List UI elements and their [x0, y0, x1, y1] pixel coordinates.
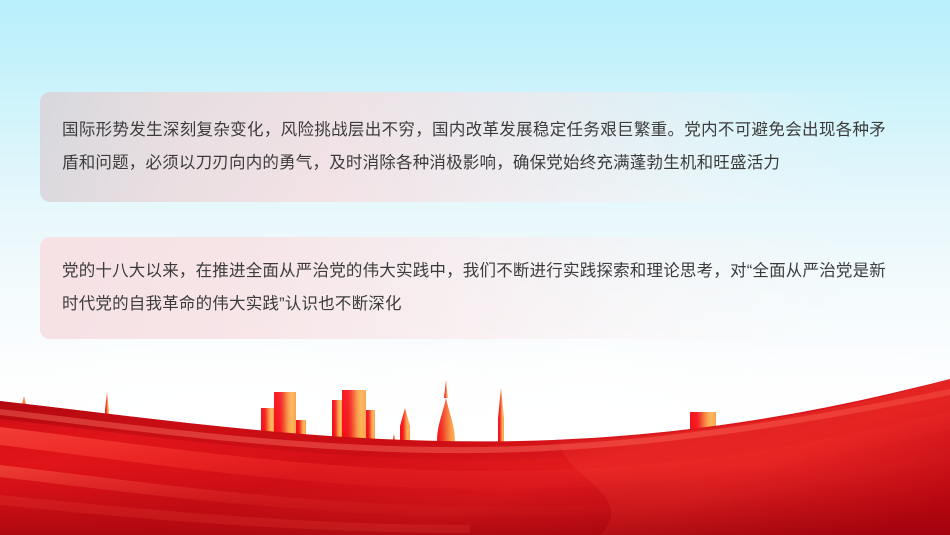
paragraph-text-1: 国际形势发生深刻复杂变化，风险挑战层出不穷，国内改革发展稳定任务艰巨繁重。党内不… — [62, 114, 886, 180]
paragraph-card-2: 党的十八大以来，在推进全面从严治党的伟大实践中，我们不断进行实践探索和理论思考，… — [40, 237, 920, 339]
paragraph-text-2: 党的十八大以来，在推进全面从严治党的伟大实践中，我们不断进行实践探索和理论思考，… — [62, 255, 886, 321]
paragraph-card-1: 国际形势发生深刻复杂变化，风险挑战层出不穷，国内改革发展稳定任务艰巨繁重。党内不… — [40, 92, 920, 202]
red-silk-ribbon — [0, 345, 950, 535]
slide-canvas: 国际形势发生深刻复杂变化，风险挑战层出不穷，国内改革发展稳定任务艰巨繁重。党内不… — [0, 0, 950, 535]
